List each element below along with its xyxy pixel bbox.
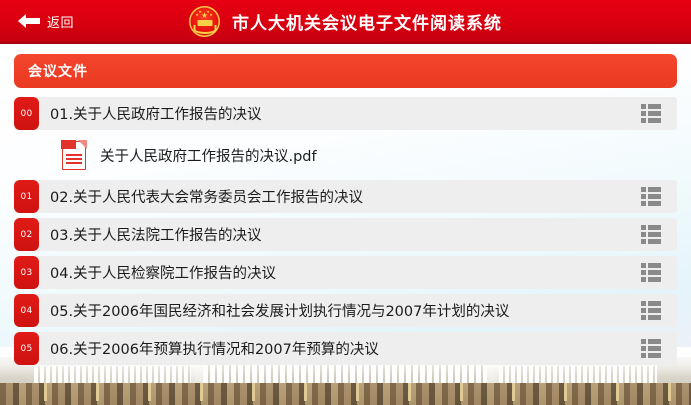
- document-index-badge: 00: [14, 97, 39, 130]
- list-grid-icon[interactable]: [641, 104, 667, 123]
- pdf-file-icon: [62, 141, 86, 170]
- list-grid-icon[interactable]: [641, 263, 667, 282]
- emblem-star-small-2: ★: [198, 10, 202, 14]
- grid-icon-row: [641, 301, 667, 306]
- document-title: 01.关于人民政府工作报告的决议: [39, 103, 641, 124]
- document-list: 00 01.关于人民政府工作报告的决议 关于人民政府工作报告的决议.pdf: [14, 97, 677, 365]
- grid-icon-row: [641, 239, 667, 244]
- document-row[interactable]: 02 03.关于人民法院工作报告的决议: [14, 218, 677, 251]
- document-index-badge: 05: [14, 332, 39, 365]
- document-index-badge: 02: [14, 218, 39, 251]
- arrow-left-icon: [18, 14, 40, 28]
- section-header-label: 会议文件: [28, 61, 88, 81]
- china-national-emblem-icon: ★ ★ ★ ★ ★: [189, 6, 220, 37]
- document-index-badge: 04: [14, 294, 39, 327]
- file-row[interactable]: 关于人民政府工作报告的决议.pdf: [14, 135, 677, 175]
- grid-icon-row: [641, 111, 667, 116]
- emblem-tiananmen-gate: [197, 20, 212, 26]
- document-index-badge: 03: [14, 256, 39, 289]
- grid-icon-row: [641, 225, 667, 230]
- emblem-star-small-1: ★: [195, 13, 199, 17]
- back-button-label: 返回: [47, 12, 74, 31]
- list-grid-icon[interactable]: [641, 225, 667, 244]
- app-root: 返回 ★ ★ ★ ★ ★ 市人大机关会议电子文件阅读系统 会议文件 00 01.…: [0, 0, 691, 405]
- top-bar: 返回 ★ ★ ★ ★ ★ 市人大机关会议电子文件阅读系统: [0, 0, 691, 44]
- emblem-wheat-ring: [193, 25, 216, 34]
- list-grid-icon[interactable]: [641, 301, 667, 320]
- grid-icon-row: [641, 104, 667, 109]
- grid-icon-row: [641, 277, 667, 282]
- emblem-star-small-4: ★: [209, 13, 213, 17]
- document-row[interactable]: 04 05.关于2006年国民经济和社会发展计划执行情况与2007年计划的决议: [14, 294, 677, 327]
- emblem-star-large: ★: [201, 12, 208, 20]
- grid-icon-row: [641, 339, 667, 344]
- document-title: 06.关于2006年预算执行情况和2007年预算的决议: [39, 338, 641, 359]
- list-grid-icon[interactable]: [641, 339, 667, 358]
- grid-icon-row: [641, 232, 667, 237]
- grid-icon-row: [641, 118, 667, 123]
- grid-icon-row: [641, 346, 667, 351]
- title-group: ★ ★ ★ ★ ★ 市人大机关会议电子文件阅读系统: [0, 0, 691, 42]
- file-name: 关于人民政府工作报告的决议.pdf: [86, 145, 317, 166]
- section-header: 会议文件: [14, 54, 677, 88]
- content-area: 会议文件 00 01.关于人民政府工作报告的决议 关: [0, 44, 691, 365]
- document-row[interactable]: 03 04.关于人民检察院工作报告的决议: [14, 256, 677, 289]
- grid-icon-row: [641, 353, 667, 358]
- grid-icon-row: [641, 308, 667, 313]
- grid-icon-row: [641, 187, 667, 192]
- grid-icon-row: [641, 263, 667, 268]
- background-lamp-posts: [0, 383, 691, 401]
- document-row[interactable]: 00 01.关于人民政府工作报告的决议: [14, 97, 677, 130]
- list-grid-icon[interactable]: [641, 187, 667, 206]
- document-row[interactable]: 05 06.关于2006年预算执行情况和2007年预算的决议: [14, 332, 677, 365]
- grid-icon-row: [641, 315, 667, 320]
- document-title: 04.关于人民检察院工作报告的决议: [39, 262, 641, 283]
- back-button[interactable]: 返回: [18, 12, 74, 31]
- document-title: 03.关于人民法院工作报告的决议: [39, 224, 641, 245]
- document-title: 05.关于2006年国民经济和社会发展计划执行情况与2007年计划的决议: [39, 300, 641, 321]
- page-title: 市人大机关会议电子文件阅读系统: [232, 9, 502, 34]
- document-row[interactable]: 01 02.关于人民代表大会常务委员会工作报告的决议: [14, 180, 677, 213]
- document-title: 02.关于人民代表大会常务委员会工作报告的决议: [39, 186, 641, 207]
- grid-icon-row: [641, 194, 667, 199]
- emblem-star-small-3: ★: [206, 10, 210, 14]
- document-index-badge: 01: [14, 180, 39, 213]
- grid-icon-row: [641, 270, 667, 275]
- grid-icon-row: [641, 201, 667, 206]
